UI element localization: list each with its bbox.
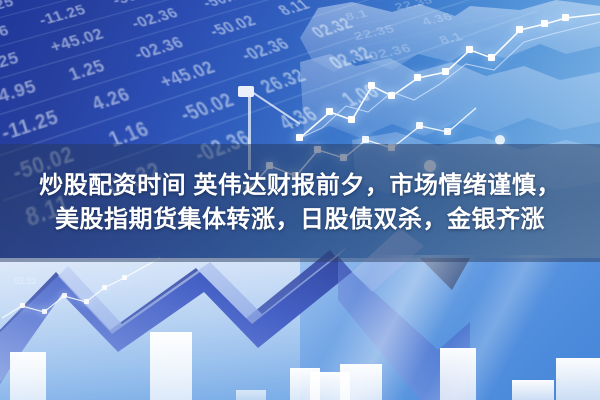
- ticker-value: 26.32: [255, 64, 311, 98]
- ticker-row: -11.25 +45.02 -02.36 26.32 4.36: [0, 0, 400, 28]
- ticker-value: +45.02: [156, 57, 220, 93]
- ticker-row: 22.35 4.36: [338, 0, 600, 49]
- ticker-value: -50.02: [109, 0, 160, 8]
- ticker-value: 02.32: [324, 42, 378, 73]
- light-sweep-overlay: [250, 255, 600, 400]
- ticker-row: -02.36 8.1: [346, 0, 600, 72]
- headline-overlay-band: 炒股配资时间 英伟达财报前夕，市场情绪谨慎， 美股指期货集体转涨，日股债双杀，金…: [0, 144, 600, 262]
- ticker-value: +45.02: [40, 0, 94, 1]
- ticker-value: 02.32: [14, 276, 37, 286]
- ticker-value: -50.02: [205, 11, 260, 40]
- ticker-value: -02.36: [130, 33, 187, 65]
- ticker-value: 8.11: [274, 0, 314, 19]
- ticker-number-plane-secondary: 8.1 22.35 22.35 4.36 -02.36 8.1: [330, 0, 600, 162]
- ticker-value: +45.02: [47, 24, 107, 56]
- ticker-value: 8.1: [436, 30, 466, 48]
- ticker-value: -11.25: [0, 105, 62, 146]
- ticker-value: 1.25: [0, 48, 21, 77]
- ticker-value: 8.1: [343, 7, 370, 23]
- ticker-value: 02.32: [307, 14, 358, 42]
- ticker-row: -11.25 4.26 +45.02 -02.36 02.32: [0, 0, 505, 157]
- ticker-value: -50.02: [199, 0, 251, 11]
- ticker-value: 4.36: [273, 101, 323, 136]
- ticker-value: 4.26: [88, 83, 134, 115]
- ticker-row: 1.25 +45.02 -02.36 -50.02 26.32: [0, 0, 448, 86]
- ticker-value: -11.25: [0, 0, 16, 20]
- background-lower-right-blue: [300, 258, 600, 400]
- ticker-value: -02.36: [361, 41, 414, 65]
- news-banner-image: +45.02 -11.25 21.06 4.36 -02.36 -02.35 +…: [0, 0, 600, 400]
- ticker-value: -4.95: [0, 75, 39, 109]
- ticker-value: -11.25: [36, 1, 88, 29]
- headline-line-2: 美股指期货集体转涨，日股债双杀，金银齐涨: [55, 203, 545, 237]
- ticker-row: 2.26 -11.25 -50.02 -02.36 0.36: [0, 0, 423, 55]
- ticker-value: 2.26: [0, 21, 11, 47]
- background-lower-light: [0, 258, 600, 400]
- ticker-value: 22.35: [392, 0, 435, 13]
- ticker-value: -02.36: [236, 34, 294, 66]
- ticker-value: -02.36: [128, 4, 182, 32]
- ticker-value: -50.02: [175, 88, 238, 127]
- headline-line-1: 炒股配资时间 英伟达财报前夕，市场情绪谨慎，: [39, 169, 561, 203]
- ticker-value: 4.36: [419, 10, 456, 28]
- ticker-row: 8.1 22.35: [330, 0, 600, 29]
- ticker-row: -4.95 1.25 -02.36 -50.02 8.11: [0, 0, 475, 119]
- ticker-value: 1.06: [336, 79, 385, 111]
- ticker-value: 22.35: [351, 22, 397, 43]
- ticker-row: -02.35 +45.02 -02.36 -50.02 1.06: [0, 0, 379, 3]
- ticker-value: 1.25: [65, 55, 108, 84]
